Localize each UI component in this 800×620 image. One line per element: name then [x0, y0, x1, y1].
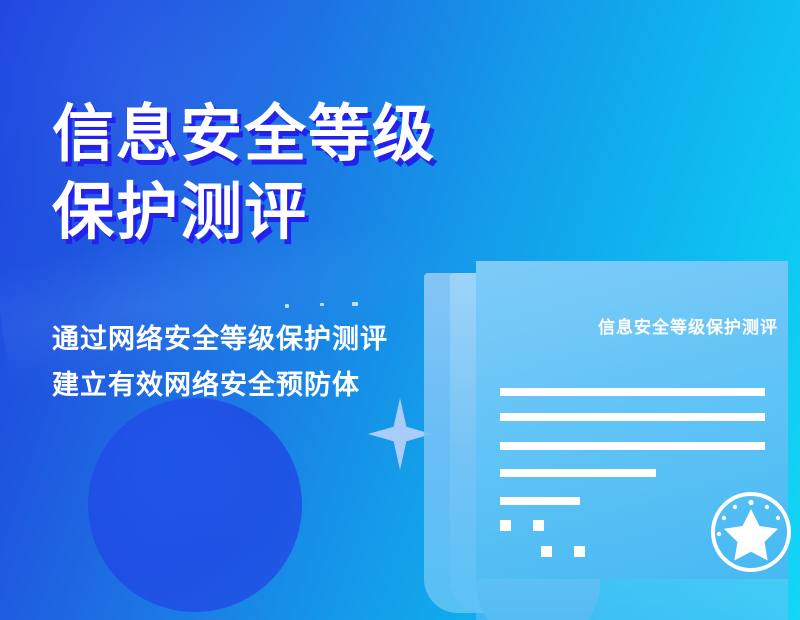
decorative-dot — [320, 303, 324, 306]
star-seal-icon — [708, 489, 794, 575]
subtitle: 通过网络安全等级保护测评 建立有效网络安全预防体 — [52, 316, 388, 408]
headline-line-1: 信息安全等级 — [52, 96, 436, 174]
certificate-title: 信息安全等级保护测评 — [532, 313, 800, 338]
certificate-front-page: 信息安全等级保护测评 — [476, 261, 788, 579]
subtitle-line-1: 通过网络安全等级保护测评 — [52, 316, 388, 362]
decorative-dot — [285, 304, 289, 308]
certificate-illustration: 信息安全等级保护测评 — [420, 255, 800, 620]
certificate-body-square — [541, 546, 552, 557]
page-title: 信息安全等级 保护测评 — [52, 96, 436, 252]
decorative-dot — [352, 302, 358, 306]
certificate-bottom-strip — [476, 579, 788, 620]
headline-line-2: 保护测评 — [52, 174, 436, 252]
certificate-body-line — [500, 442, 765, 450]
subtitle-line-2: 建立有效网络安全预防体 — [52, 362, 388, 408]
certificate-body-square — [533, 520, 544, 531]
certificate-body-line — [500, 413, 765, 421]
background-accent-circle — [88, 398, 302, 612]
certificate-body-line — [500, 388, 765, 396]
certificate-body-line — [500, 469, 656, 477]
certificate-body-square — [500, 520, 511, 531]
certificate-body-square — [574, 546, 585, 557]
certificate-body-line — [500, 497, 580, 505]
promo-banner: 信息安全等级 保护测评 通过网络安全等级保护测评 建立有效网络安全预防体 信息安… — [0, 0, 800, 620]
